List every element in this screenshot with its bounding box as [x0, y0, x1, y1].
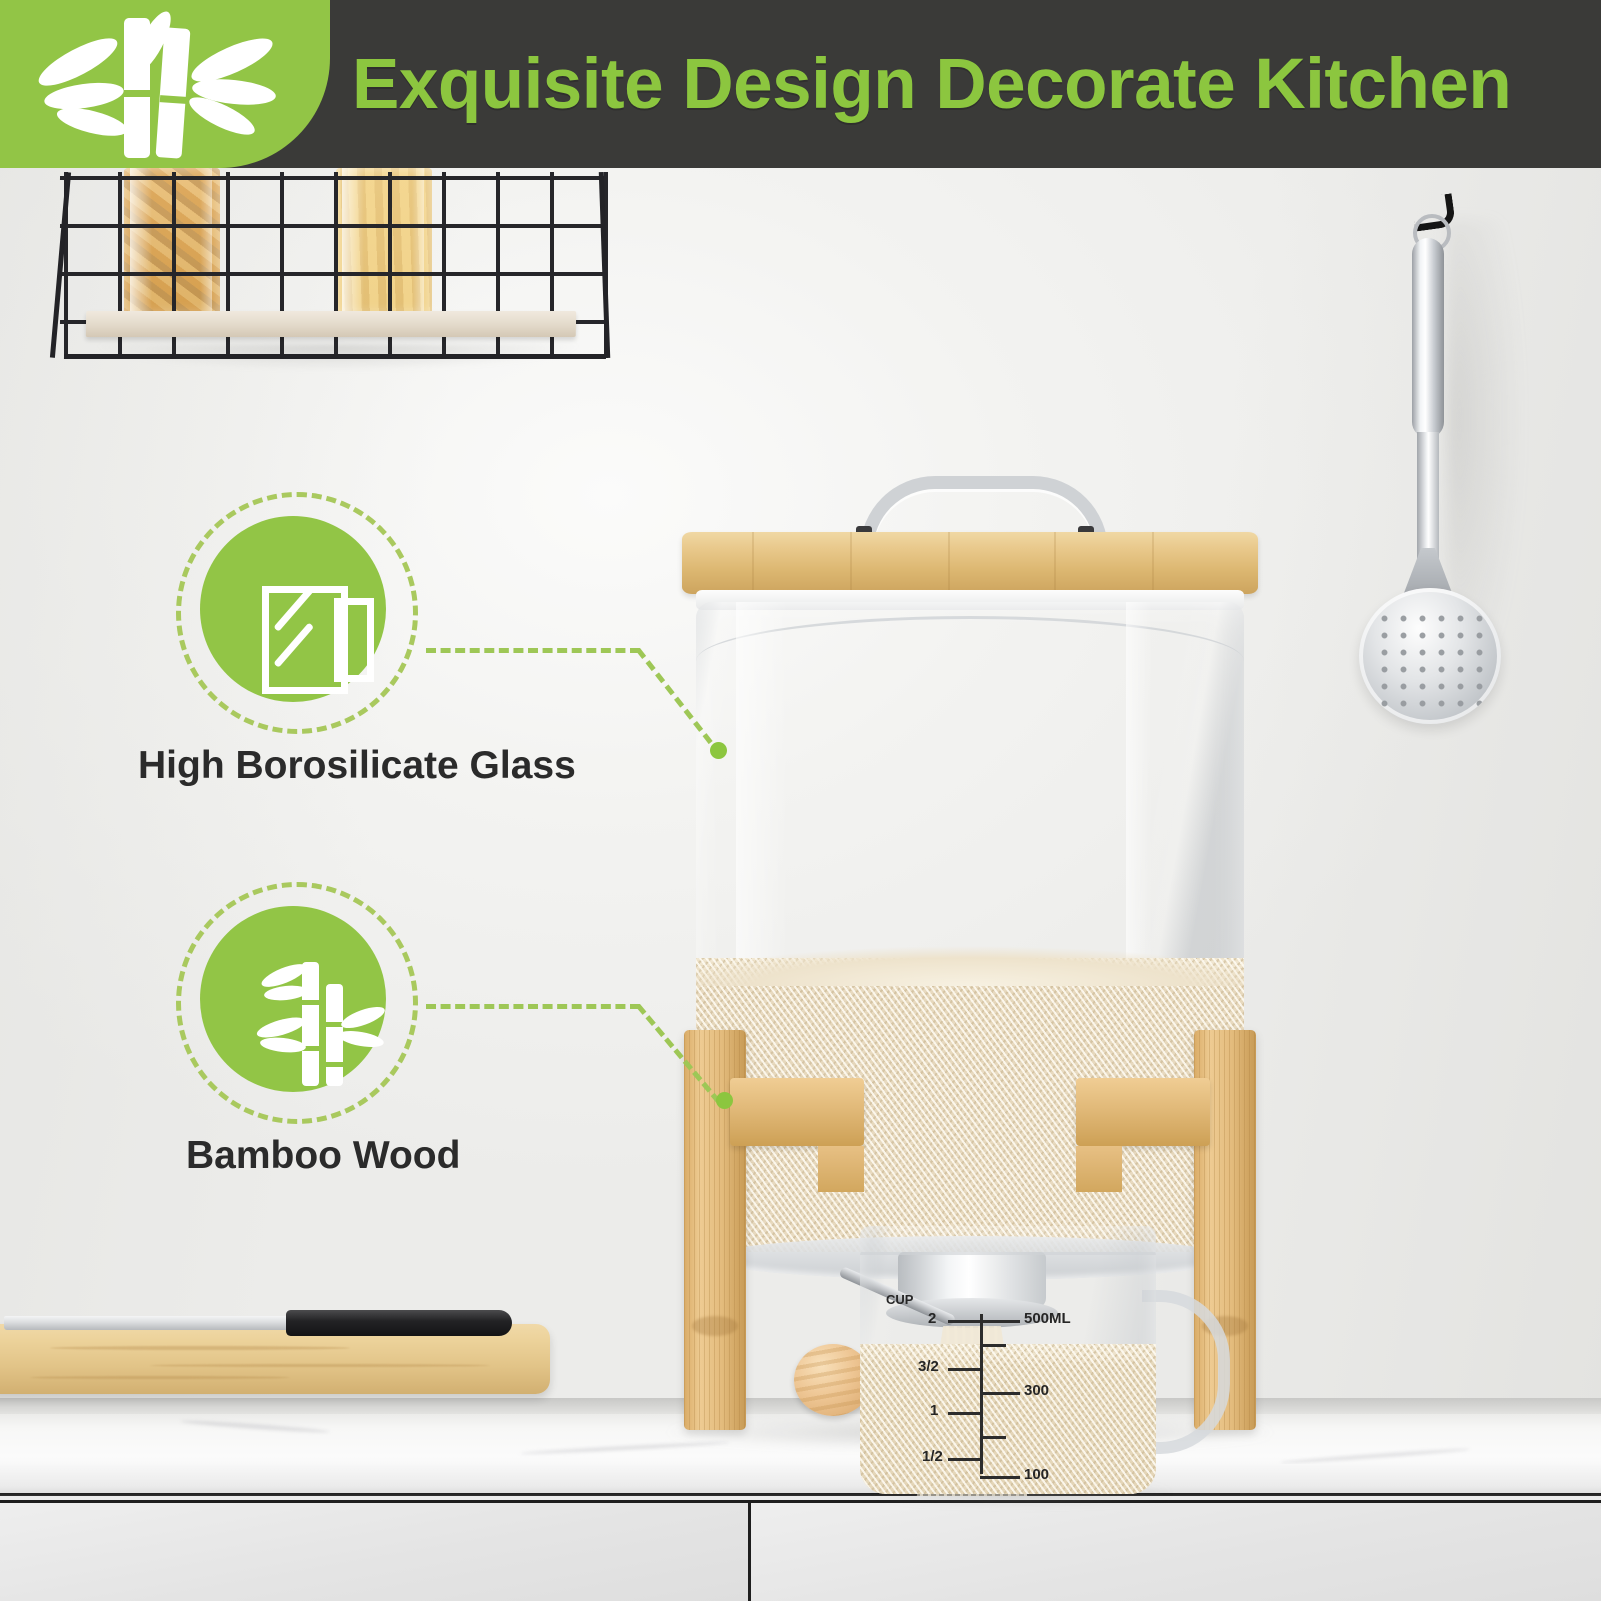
cup-mark-100: 100 [1024, 1466, 1049, 1483]
badge-circle [200, 906, 386, 1092]
feature-bamboo-label: Bamboo Wood [186, 1134, 606, 1178]
cabinet-door-left[interactable] [0, 1500, 751, 1601]
connector-bamboo-diagonal [636, 1004, 721, 1104]
cabinet-door-right[interactable] [751, 1500, 1601, 1601]
measuring-cup-scale: CUP 2 500ML 3/2 300 1 1/2 100 [860, 1226, 1156, 1494]
connector-bamboo-endpoint [716, 1092, 733, 1109]
skimmer-bowl [1359, 588, 1501, 724]
header-title: Exquisite Design Decorate Kitchen [352, 0, 1511, 168]
basket-frame-bottom [64, 354, 606, 359]
skimmer-perforations [1373, 608, 1487, 712]
cup-mark-1: 1 [930, 1402, 938, 1419]
jar-highlight [342, 168, 364, 316]
bamboo-bracket-step-left [818, 1146, 864, 1192]
bamboo-logo-icon [0, 0, 330, 168]
feature-high-borosilicate-glass[interactable]: High Borosilicate Glass [176, 492, 596, 812]
skimmer-neck [1417, 432, 1439, 562]
cutting-board-group [0, 1300, 570, 1410]
wire-horizontal [60, 176, 606, 180]
glass-panes-icon [262, 578, 374, 688]
cup-mark-half: 1/2 [922, 1448, 943, 1465]
header-bar: Exquisite Design Decorate Kitchen [0, 0, 1601, 168]
wire-wall-basket-shelf [36, 168, 636, 383]
skimmer-handle [1412, 238, 1444, 438]
bamboo-stalk-icon [258, 958, 382, 1086]
stainless-steel-skimmer [1355, 196, 1505, 726]
connector-glass-endpoint [710, 742, 727, 759]
cup-mark-500ml: 500ML [1024, 1310, 1071, 1327]
scene-root: CUP 2 500ML 3/2 300 1 1/2 100 [0, 0, 1601, 1601]
cup-unit-label: CUP [886, 1292, 913, 1307]
bamboo-bracket-step-right [1076, 1146, 1122, 1192]
connector-glass-diagonal [636, 648, 713, 744]
bamboo-lid[interactable] [682, 532, 1258, 594]
shelf-wood-board [86, 311, 576, 337]
bamboo-logo-svg [0, 0, 330, 168]
jar-highlight [130, 168, 152, 316]
knife-blade [4, 1316, 294, 1330]
wire-horizontal [60, 272, 606, 276]
badge-circle [200, 516, 386, 702]
cup-mark-300: 300 [1024, 1382, 1049, 1399]
rice-surface [696, 946, 1244, 986]
glass-rice-dispenser: CUP 2 500ML 3/2 300 1 1/2 100 [660, 470, 1280, 1460]
knife-handle [286, 1310, 512, 1336]
jar-highlight-right [412, 168, 424, 316]
cup-mark-2: 2 [928, 1310, 936, 1327]
bamboo-bracket-right [1076, 1078, 1210, 1146]
borosilicate-glass-body [696, 602, 1244, 1252]
bamboo-bracket-left [730, 1078, 864, 1146]
tagliatelle-pasta-jar [336, 168, 432, 316]
basket-frame-right [599, 172, 610, 358]
jar-highlight-right [200, 168, 212, 316]
feature-bamboo-wood[interactable]: Bamboo Wood [176, 882, 596, 1202]
wire-horizontal [60, 224, 606, 228]
cup-mark-three-halves: 3/2 [918, 1358, 939, 1375]
feature-glass-label: High Borosilicate Glass [138, 744, 558, 788]
countertop-front-face [0, 1464, 1601, 1496]
